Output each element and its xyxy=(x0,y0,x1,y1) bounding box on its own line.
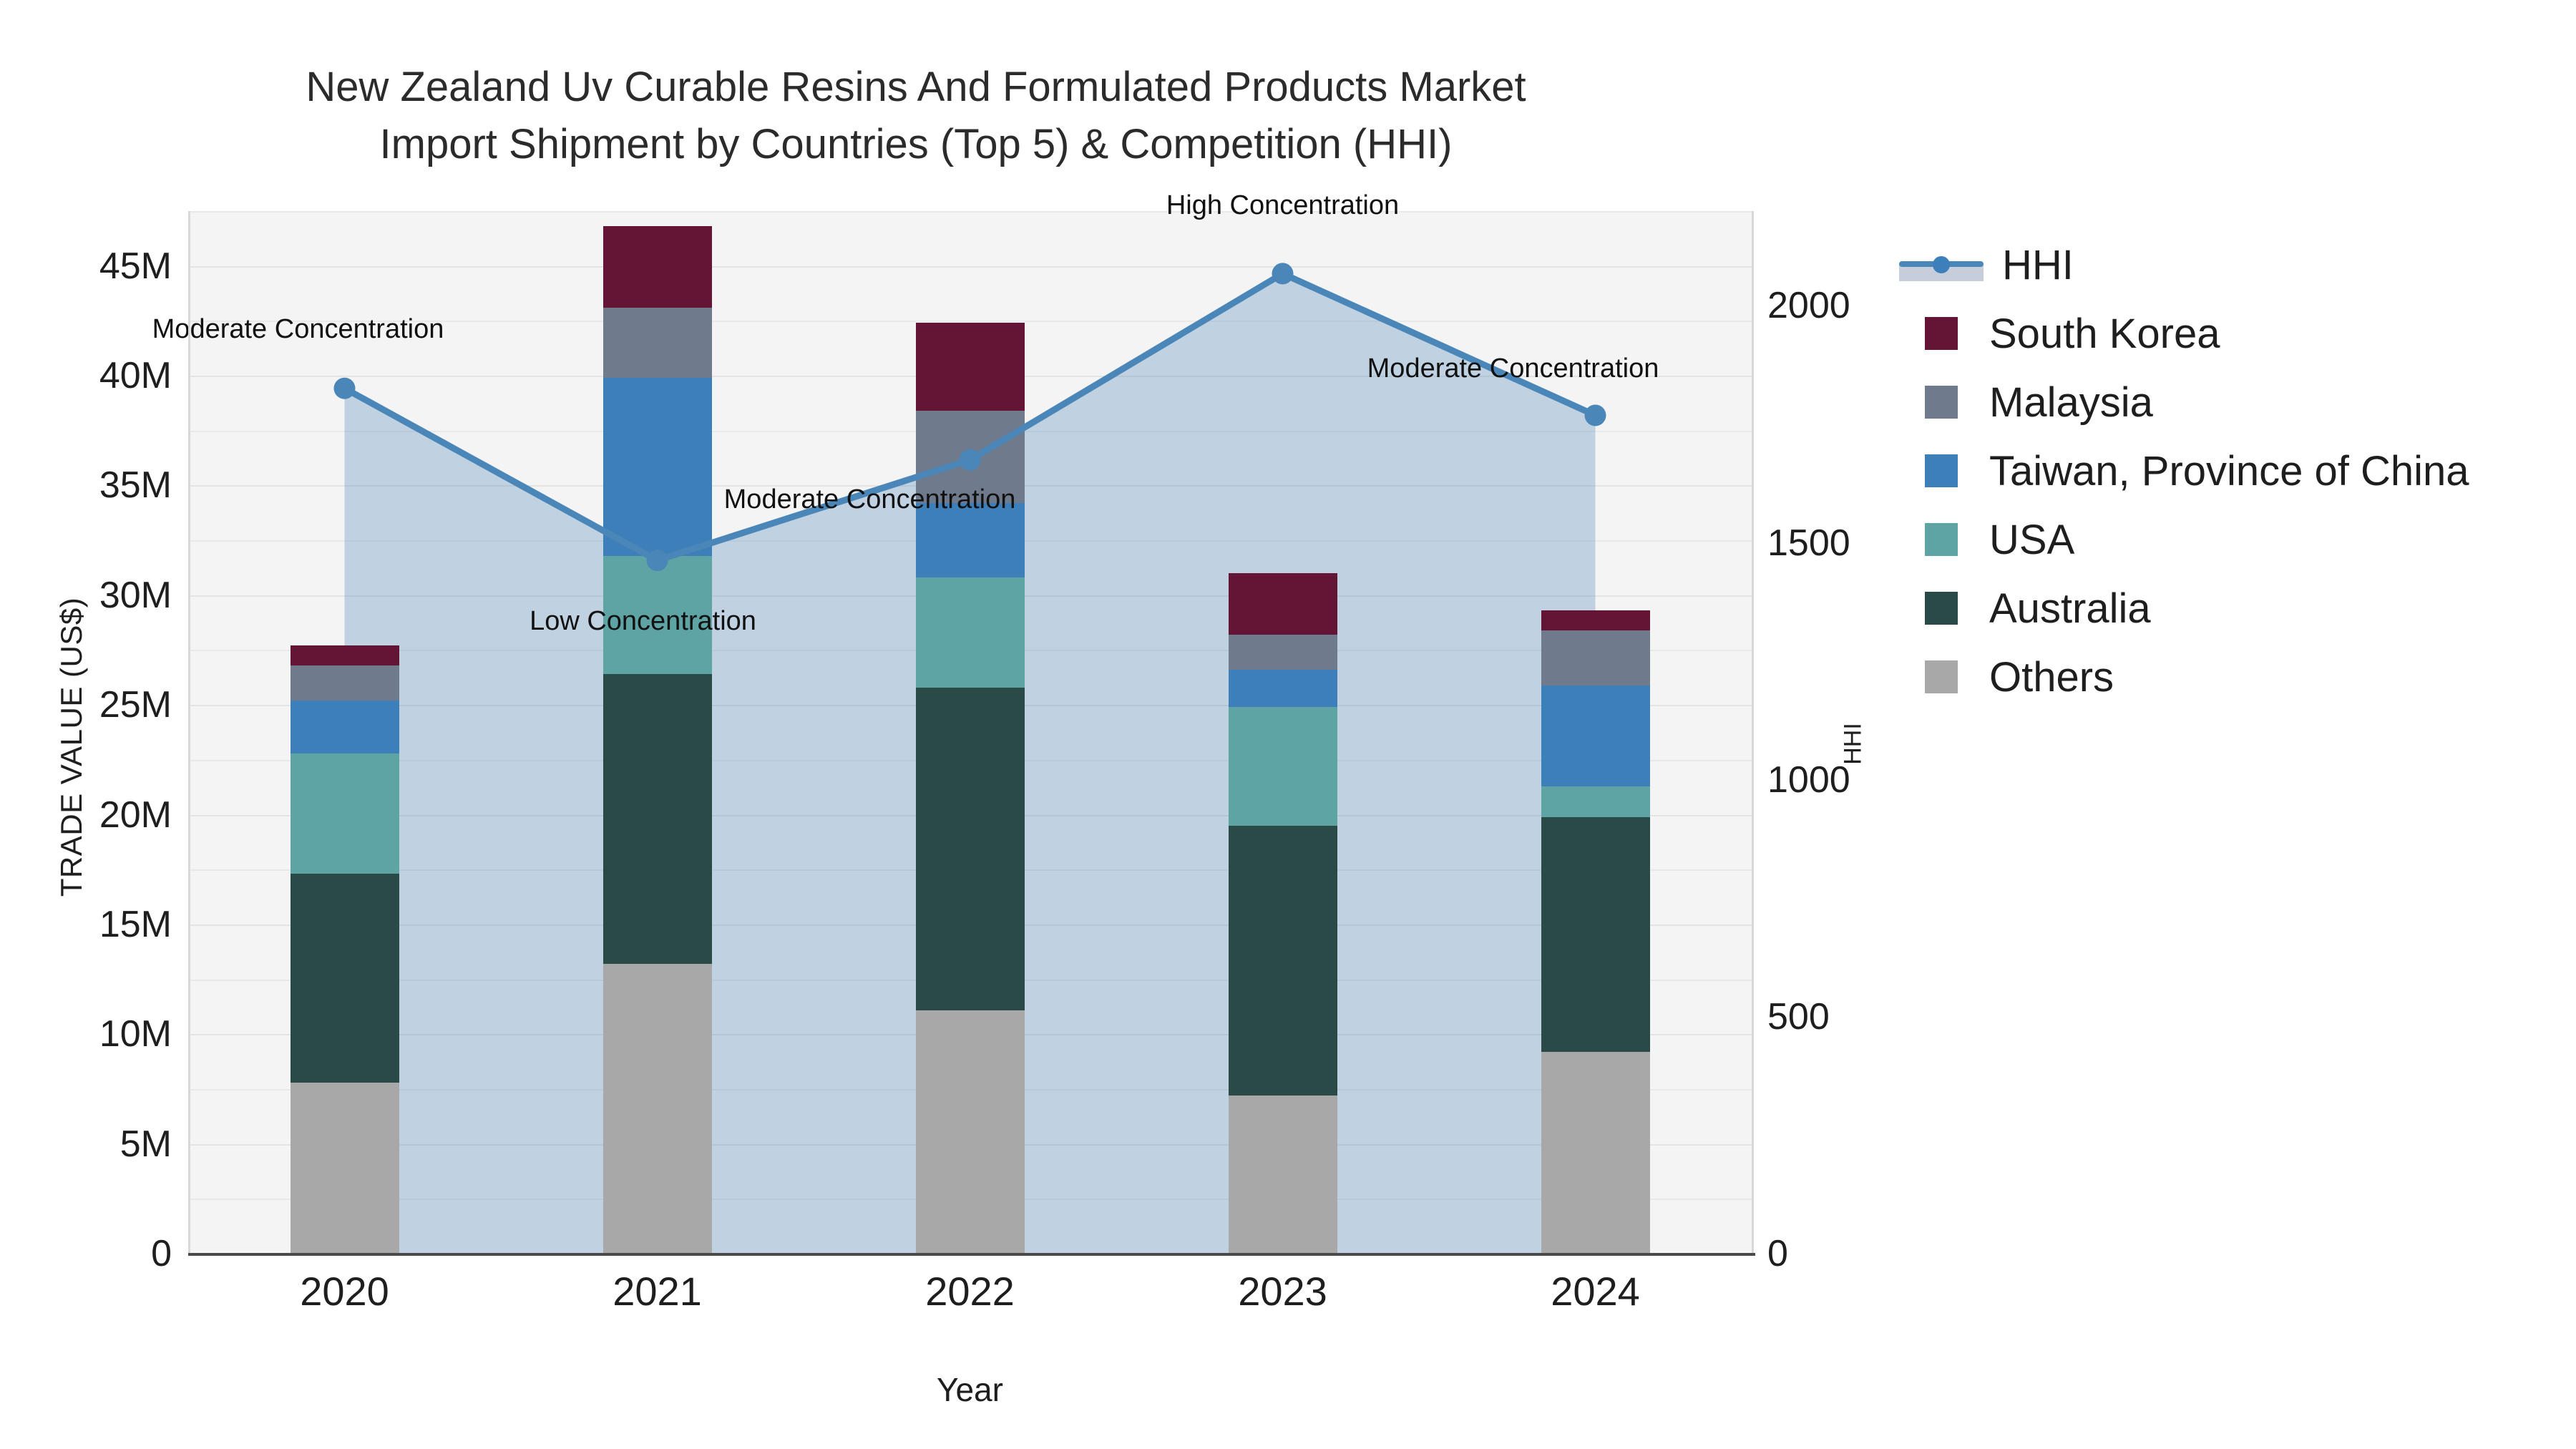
bar-segment[interactable] xyxy=(291,701,399,753)
bar-segment[interactable] xyxy=(1229,1096,1337,1254)
chart-title-line1: New Zealand Uv Curable Resins And Formul… xyxy=(0,59,1832,116)
legend-item[interactable]: Taiwan, Province of China xyxy=(1925,436,2555,505)
bar-segment[interactable] xyxy=(291,753,399,874)
y-axis-tick-label: 35M xyxy=(0,464,172,507)
y-axis-tick-label: 45M xyxy=(0,245,172,288)
legend-item-hhi[interactable]: HHI xyxy=(1925,230,2555,299)
y-axis-line xyxy=(188,211,190,1255)
bar-segment[interactable] xyxy=(1229,670,1337,707)
legend-swatch-icon xyxy=(1925,592,1958,625)
bar-segment[interactable] xyxy=(1229,635,1337,670)
bar-segment[interactable] xyxy=(916,577,1025,687)
legend-item[interactable]: Malaysia xyxy=(1925,368,2555,436)
bar-segment[interactable] xyxy=(1541,686,1650,786)
legend-swatch-icon xyxy=(1925,317,1958,350)
legend-label: Malaysia xyxy=(1989,379,2153,426)
gridline xyxy=(188,266,1752,268)
x-axis-tick-label: 2023 xyxy=(1238,1268,1327,1314)
chart-title-line2: Import Shipment by Countries (Top 5) & C… xyxy=(0,116,1832,173)
y2-axis-tick-label: 1000 xyxy=(1767,758,1850,801)
y-axis-tick-label: 40M xyxy=(0,354,172,397)
legend-item[interactable]: South Korea xyxy=(1925,299,2555,368)
legend: HHISouth KoreaMalaysiaTaiwan, Province o… xyxy=(1925,230,2555,711)
hhi-line-icon xyxy=(1899,248,1984,281)
y-axis-tick-label: 10M xyxy=(0,1013,172,1055)
bar-segment[interactable] xyxy=(1541,786,1650,817)
x-axis-tick-label: 2022 xyxy=(925,1268,1015,1314)
bar-segment[interactable] xyxy=(1541,630,1650,686)
x-axis-line xyxy=(188,1253,1755,1256)
bar-segment[interactable] xyxy=(1541,817,1650,1052)
bar-segment[interactable] xyxy=(603,964,712,1254)
chart-title: New Zealand Uv Curable Resins And Formul… xyxy=(0,59,1832,173)
legend-swatch-icon xyxy=(1925,660,1958,693)
bar-segment[interactable] xyxy=(291,645,399,665)
y2-axis-label: HHI xyxy=(1840,651,1868,837)
x-axis-tick-label: 2021 xyxy=(613,1268,702,1314)
hhi-annotation-label: Moderate Concentration xyxy=(724,484,1016,515)
y2-axis-tick-label: 0 xyxy=(1767,1232,1788,1275)
hhi-annotation-label: High Concentration xyxy=(1166,190,1399,221)
y2-axis-line xyxy=(1752,211,1754,1255)
legend-swatch-icon xyxy=(1925,523,1958,556)
y-axis-label: TRADE VALUE (US$) xyxy=(54,568,89,926)
bar-segment[interactable] xyxy=(603,674,712,964)
bar-segment[interactable] xyxy=(603,308,712,378)
x-axis-tick-label: 2024 xyxy=(1551,1268,1640,1314)
x-axis-tick-label: 2020 xyxy=(300,1268,389,1314)
bar-segment[interactable] xyxy=(291,665,399,701)
legend-label: USA xyxy=(1989,516,2074,564)
y2-axis-tick-label: 500 xyxy=(1767,995,1830,1038)
bar-segment[interactable] xyxy=(603,226,712,307)
bar-segment[interactable] xyxy=(603,378,712,555)
bar-segment[interactable] xyxy=(291,874,399,1082)
y-axis-tick-label: 5M xyxy=(0,1123,172,1166)
x-axis-label: Year xyxy=(188,1370,1752,1409)
legend-label: Taiwan, Province of China xyxy=(1989,447,2469,495)
hhi-annotation-label: Moderate Concentration xyxy=(152,314,444,345)
hhi-annotation-label: Moderate Concentration xyxy=(1367,353,1659,384)
legend-label: Others xyxy=(1989,653,2114,701)
legend-swatch-icon xyxy=(1925,386,1958,419)
y2-axis-tick-label: 2000 xyxy=(1767,284,1850,327)
bar-segment[interactable] xyxy=(916,1010,1025,1254)
legend-item[interactable]: USA xyxy=(1925,505,2555,574)
gridline xyxy=(188,211,1752,213)
bar-segment[interactable] xyxy=(1229,826,1337,1096)
bar-segment[interactable] xyxy=(291,1083,399,1254)
legend-label: Australia xyxy=(1989,585,2151,633)
legend-item[interactable]: Australia xyxy=(1925,574,2555,643)
bar-segment[interactable] xyxy=(916,323,1025,411)
bar-segment[interactable] xyxy=(1541,610,1650,630)
bar-segment[interactable] xyxy=(1541,1052,1650,1254)
legend-item[interactable]: Others xyxy=(1925,643,2555,711)
legend-swatch-icon xyxy=(1925,454,1958,487)
y-axis-tick-label: 0 xyxy=(0,1232,172,1275)
legend-label: South Korea xyxy=(1989,310,2220,358)
bar-segment[interactable] xyxy=(1229,573,1337,635)
hhi-annotation-label: Low Concentration xyxy=(530,606,756,637)
bar-segment[interactable] xyxy=(916,688,1025,1010)
chart-root: New Zealand Uv Curable Resins And Formul… xyxy=(0,0,2576,1449)
legend-label: HHI xyxy=(2002,241,2074,289)
y2-axis-tick-label: 1500 xyxy=(1767,522,1850,565)
bar-segment[interactable] xyxy=(1229,707,1337,826)
